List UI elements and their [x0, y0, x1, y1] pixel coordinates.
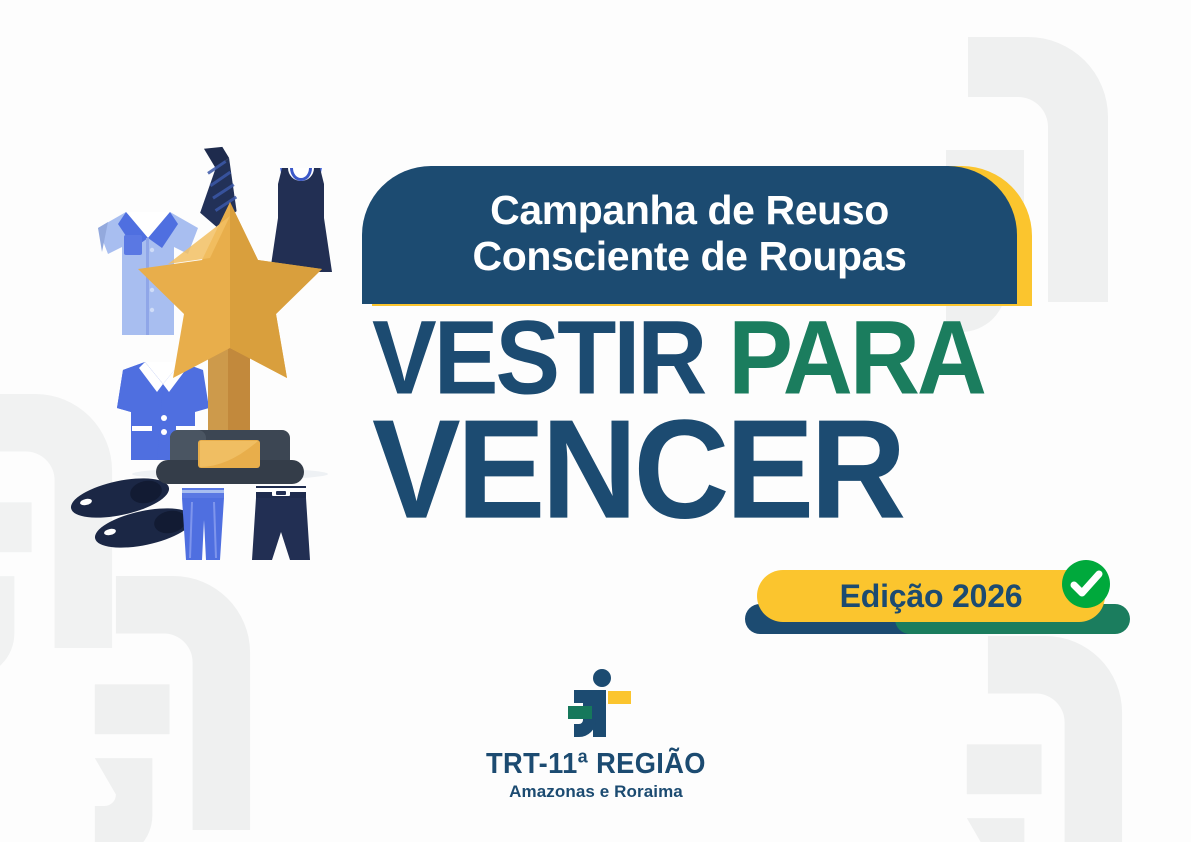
campaign-title-line-2: VENCER — [372, 400, 902, 541]
edition-badge-label: Edição 2026 — [840, 578, 1023, 615]
dress-icon — [270, 168, 332, 272]
headline-pill: Campanha de Reuso Consciente de Roupas — [362, 166, 1034, 306]
jt-runner-icon — [546, 668, 646, 740]
headline-line-1: Campanha de Reuso — [490, 188, 889, 234]
jt-logo-watermark-bottom-right — [940, 630, 1170, 842]
trousers-icon — [182, 488, 224, 560]
edition-badge[interactable]: Edição 2026 — [757, 570, 1105, 622]
check-circle-icon — [1060, 558, 1112, 610]
edition-badge-group: Edição 2026 — [745, 568, 1130, 640]
logo-title: TRT-11ª REGIÃO — [486, 748, 706, 781]
clothing-illustration — [60, 130, 390, 560]
campaign-poster: Campanha de Reuso Consciente de Roupas V… — [0, 0, 1191, 842]
headline-line-2: Consciente de Roupas — [473, 234, 907, 280]
headline-pill-body: Campanha de Reuso Consciente de Roupas — [362, 166, 1017, 304]
logo-subtitle: Amazonas e Roraima — [509, 782, 683, 802]
skirt-icon — [252, 486, 310, 560]
trt-logo: TRT-11ª REGIÃO Amazonas e Roraima — [496, 668, 696, 813]
jt-logo-watermark-bottom-left — [68, 570, 298, 842]
